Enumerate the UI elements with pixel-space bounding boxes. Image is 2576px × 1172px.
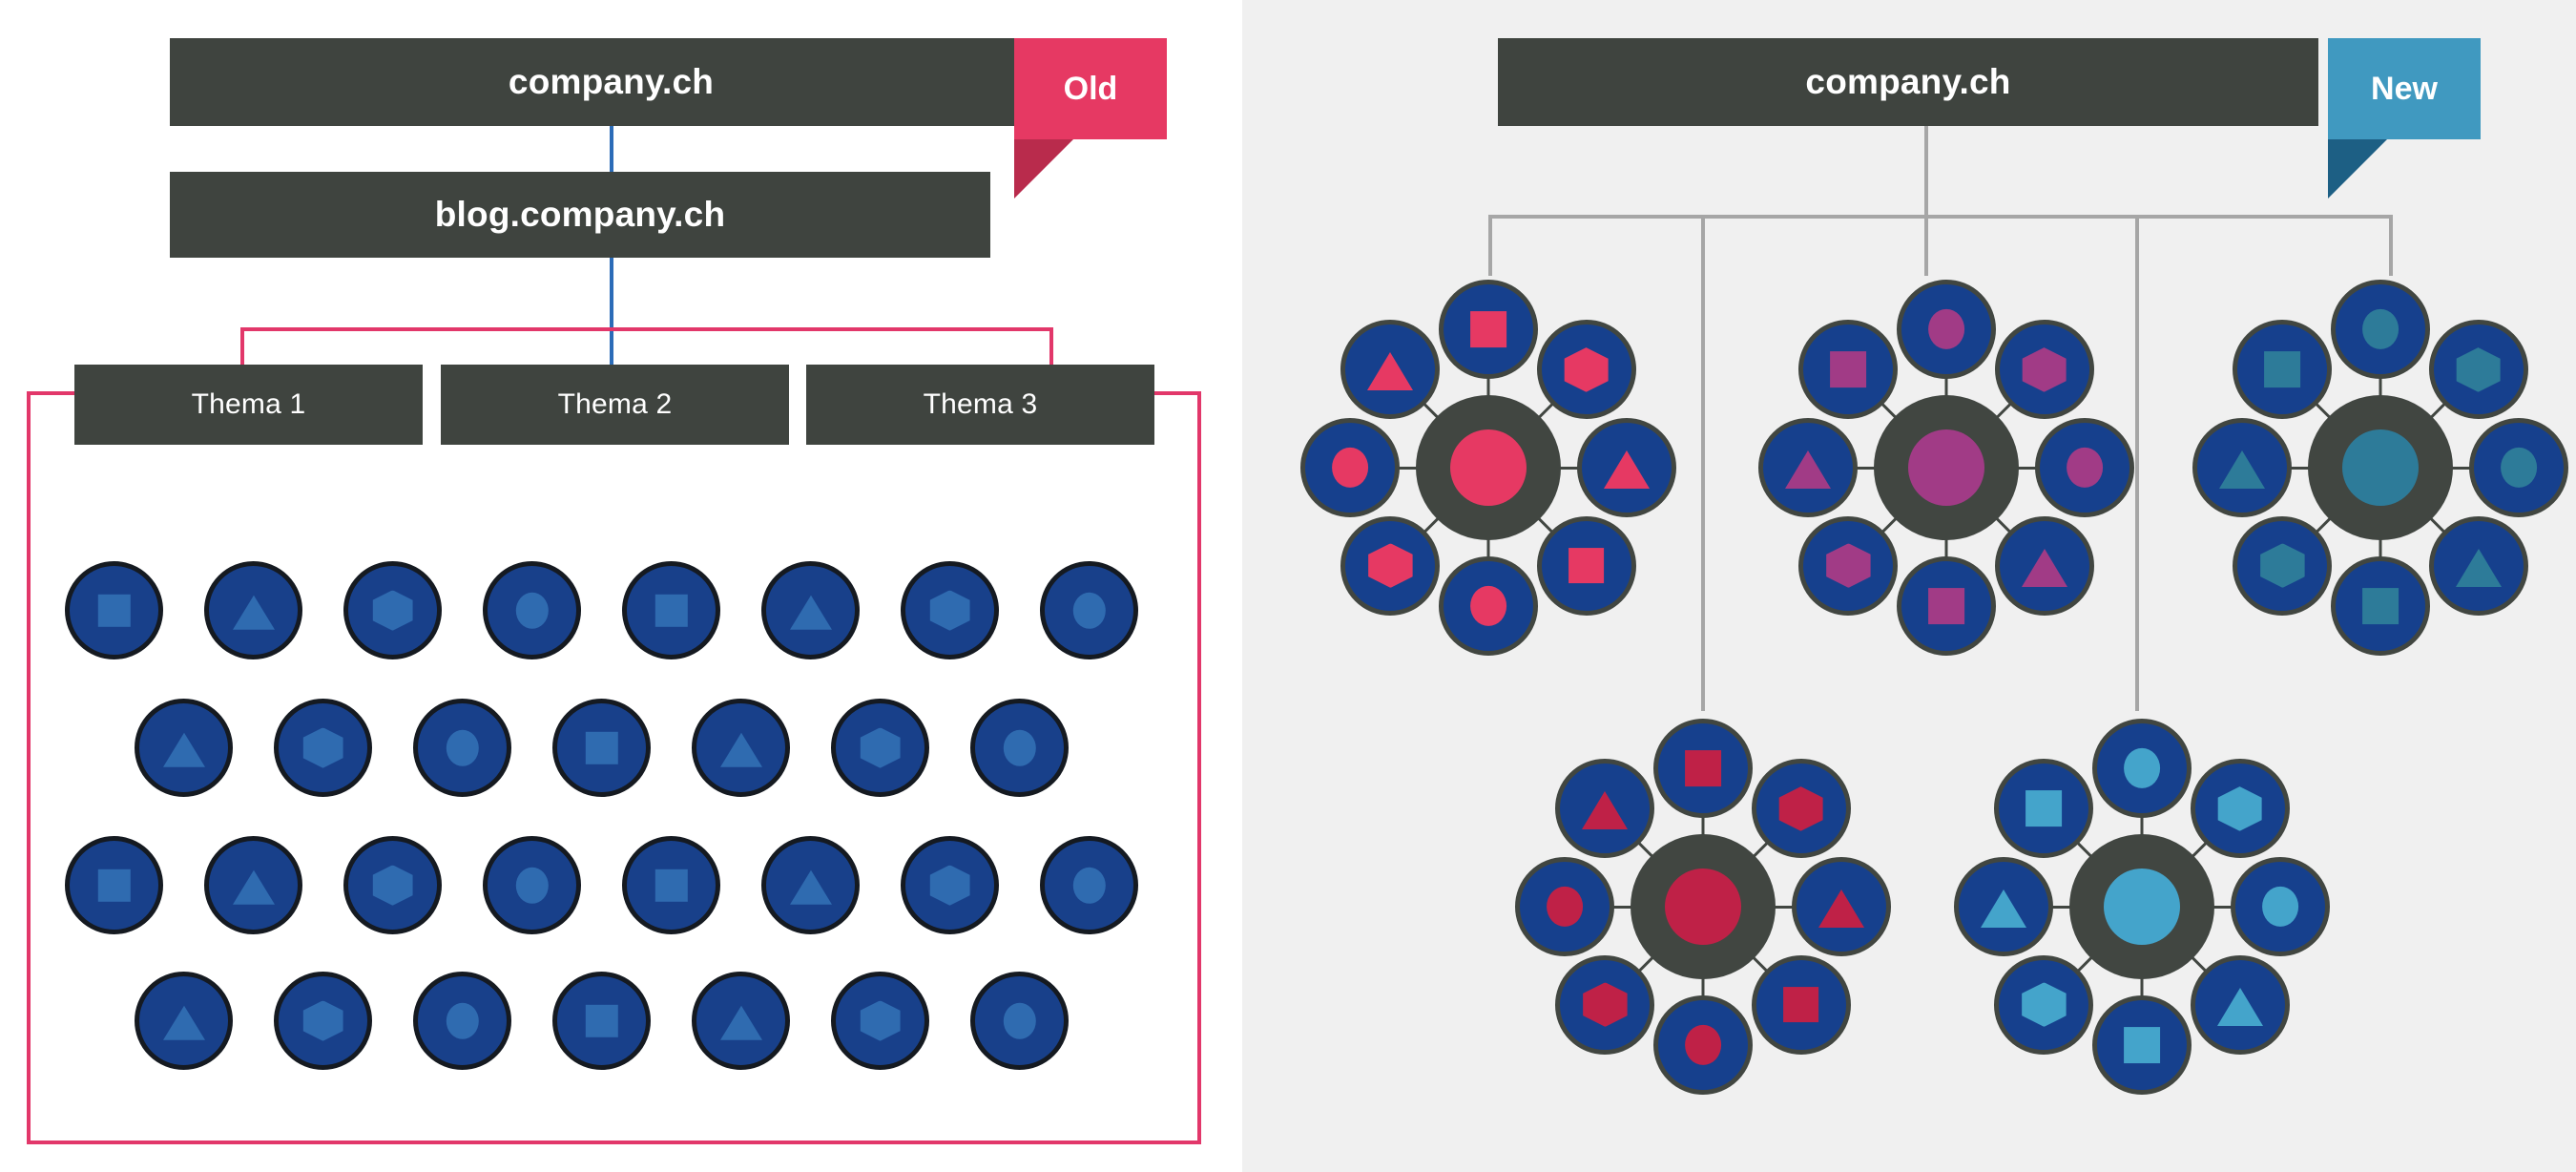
circle-shape-icon [1332,448,1368,488]
cluster-satellite[interactable] [1300,418,1400,517]
old-grid-circle[interactable] [970,699,1069,797]
hexagon-shape-icon [2456,347,2501,392]
circle-shape-icon [1547,887,1583,927]
old-blog-box[interactable]: blog.company.ch [170,172,990,258]
old-grid-circle[interactable] [622,836,720,934]
connector-blog-to-thema2 [610,256,613,370]
cluster-satellite[interactable] [2429,320,2528,419]
cluster-satellite[interactable] [1897,556,1996,656]
old-grid-circle[interactable] [343,561,442,659]
old-theme-box-2[interactable]: Thema 2 [441,365,789,445]
hexagon-shape-icon [372,590,412,630]
old-grid-circle[interactable] [343,836,442,934]
triangle-shape-icon [1785,450,1831,489]
circle-shape-icon [515,592,548,628]
square-shape-icon [2026,791,2063,827]
cluster-satellite[interactable] [1439,280,1538,379]
cluster-satellite[interactable] [1537,516,1636,616]
old-badge-fold [1014,139,1073,199]
cluster-satellite[interactable] [1439,556,1538,656]
old-grid-circle[interactable] [692,699,790,797]
hexagon-shape-icon [2217,786,2262,831]
new-crossbar [1488,215,2393,219]
triangle-shape-icon [2217,988,2263,1026]
circle-shape-icon [1003,729,1035,765]
square-shape-icon [97,594,130,626]
old-grid-circle[interactable] [204,561,302,659]
square-shape-icon [1568,548,1605,584]
triangle-shape-icon [163,732,205,766]
circle-shape-icon [515,867,548,903]
new-branch-drop-4 [2389,215,2393,276]
frame-bottom [27,1141,1201,1144]
cluster-hub[interactable] [2069,834,2214,979]
triangle-shape-icon [1981,889,2026,928]
cluster-satellite[interactable] [1653,995,1753,1095]
cluster-satellite[interactable] [1340,516,1440,616]
triangle-shape-icon [2456,549,2502,587]
triangle-shape-icon [233,869,275,904]
circle-shape-icon [2362,309,2399,349]
triangle-shape-icon [1818,889,1864,928]
old-grid-circle[interactable] [552,699,651,797]
old-grid-circle[interactable] [761,561,860,659]
cluster-hub[interactable] [1416,395,1561,540]
hexagon-shape-icon [2022,982,2067,1027]
triangle-shape-icon [1582,791,1628,829]
hexagon-shape-icon [302,727,343,767]
circle-shape-icon [2501,448,2537,488]
circle-shape-icon [446,1002,478,1038]
old-grid-circle[interactable] [901,561,999,659]
old-grid-circle[interactable] [552,972,651,1070]
cluster-satellite[interactable] [2035,418,2134,517]
old-root-box[interactable]: company.ch [170,38,1052,126]
circle-shape-icon [1003,1002,1035,1038]
triangle-shape-icon [790,595,832,629]
circle-shape-icon [2124,748,2160,788]
old-grid-circle[interactable] [65,561,163,659]
triangle-shape-icon [233,595,275,629]
old-grid-circle[interactable] [831,699,929,797]
frame-right [1197,391,1201,1141]
circle-shape-icon [1072,592,1105,628]
circle-shape-icon [1470,586,1506,626]
hexagon-shape-icon [1583,982,1628,1027]
square-shape-icon [2124,1027,2160,1063]
connector-thema-bracket [240,327,1053,331]
cluster-satellite[interactable] [1897,280,1996,379]
square-shape-icon [585,1004,617,1036]
old-grid-circle[interactable] [1040,836,1138,934]
cluster-satellite[interactable] [2331,280,2430,379]
old-theme-box-1[interactable]: Thema 1 [74,365,423,445]
cluster-hub[interactable] [1874,395,2019,540]
cluster-satellite[interactable] [1994,955,2093,1055]
new-trunk [1924,126,1928,218]
cluster-hub[interactable] [2308,395,2453,540]
cluster-satellite[interactable] [2429,516,2528,616]
hexagon-shape-icon [1368,543,1413,588]
circle-shape-icon [1685,1025,1721,1065]
cluster-satellite[interactable] [1792,857,1891,956]
old-grid-circle[interactable] [761,836,860,934]
square-shape-icon [1928,588,1964,624]
new-branch-drop-1 [1488,215,1492,276]
hexagon-shape-icon [2260,543,2305,588]
triangle-shape-icon [720,732,762,766]
circle-shape-icon [2262,887,2298,927]
old-grid-circle[interactable] [831,972,929,1070]
circle-shape-icon [1072,867,1105,903]
square-shape-icon [2362,588,2399,624]
square-shape-icon [97,869,130,901]
old-badge-flag: Old [1014,38,1167,139]
hexagon-shape-icon [1778,786,1823,831]
old-grid-circle[interactable] [135,699,233,797]
new-branch-long-right [2135,215,2139,711]
cluster-satellite[interactable] [2231,857,2330,956]
cluster-hub-core [2104,869,2180,945]
cluster-satellite[interactable] [1758,418,1858,517]
new-badge: New [2328,38,2481,172]
triangle-shape-icon [163,1005,205,1039]
cluster-satellite[interactable] [2331,556,2430,656]
cluster-satellite[interactable] [1954,857,2053,956]
old-grid-circle[interactable] [274,972,372,1070]
old-grid-circle[interactable] [135,972,233,1070]
triangle-shape-icon [720,1005,762,1039]
cluster-satellite[interactable] [1577,418,1676,517]
square-shape-icon [1685,750,1721,786]
cluster-satellite[interactable] [1995,320,2094,419]
square-shape-icon [1831,352,1867,388]
old-grid-circle[interactable] [413,972,511,1070]
circle-shape-icon [446,729,478,765]
square-shape-icon [2265,352,2301,388]
cluster-satellite[interactable] [2233,516,2332,616]
cluster-satellite[interactable] [1752,955,1851,1055]
frame-top-right-stub [1150,391,1201,395]
old-grid-circle[interactable] [65,836,163,934]
square-shape-icon [1470,311,1506,347]
triangle-shape-icon [1367,352,1413,390]
cluster-satellite[interactable] [2469,418,2568,517]
old-grid-circle[interactable] [622,561,720,659]
square-shape-icon [1783,987,1819,1023]
cluster-satellite[interactable] [1798,516,1898,616]
triangle-shape-icon [2022,549,2067,587]
old-grid-circle[interactable] [274,699,372,797]
cluster-satellite[interactable] [1555,955,1654,1055]
square-shape-icon [654,594,687,626]
cluster-satellite[interactable] [2192,418,2292,517]
square-shape-icon [585,731,617,764]
cluster-satellite[interactable] [1752,759,1851,858]
new-badge-flag: New [2328,38,2481,139]
cluster-hub-core [2342,429,2419,506]
cluster-satellite[interactable] [2191,955,2290,1055]
hexagon-shape-icon [302,1000,343,1040]
hexagon-shape-icon [929,865,969,905]
square-shape-icon [654,869,687,901]
cluster-satellite[interactable] [2092,995,2192,1095]
old-badge: Old [1014,38,1167,172]
frame-left [27,391,31,1141]
old-theme-box-3[interactable]: Thema 3 [806,365,1154,445]
frame-top-left-stub [27,391,76,395]
hexagon-shape-icon [929,590,969,630]
hexagon-shape-icon [372,865,412,905]
new-branch-drop-center [1924,215,1928,276]
hexagon-shape-icon [1564,347,1609,392]
cluster-hub[interactable] [1631,834,1776,979]
hexagon-shape-icon [860,1000,900,1040]
hexagon-shape-icon [2022,347,2067,392]
old-grid-circle[interactable] [970,972,1069,1070]
old-grid-circle[interactable] [204,836,302,934]
new-root-box[interactable]: company.ch [1498,38,2318,126]
circle-shape-icon [1928,309,1964,349]
old-grid-circle[interactable] [483,561,581,659]
old-grid-circle[interactable] [483,836,581,934]
cluster-satellite[interactable] [2191,759,2290,858]
new-branch-long-left [1701,215,1705,711]
cluster-hub-core [1450,429,1527,506]
hexagon-shape-icon [860,727,900,767]
triangle-shape-icon [1604,450,1650,489]
old-grid-circle[interactable] [413,699,511,797]
old-grid-circle[interactable] [1040,561,1138,659]
new-badge-fold [2328,139,2387,199]
circle-shape-icon [2067,448,2103,488]
triangle-shape-icon [2219,450,2265,489]
old-grid-circle[interactable] [901,836,999,934]
old-grid-circle[interactable] [692,972,790,1070]
hexagon-shape-icon [1826,543,1871,588]
cluster-hub-core [1908,429,1984,506]
cluster-satellite[interactable] [1995,516,2094,616]
triangle-shape-icon [790,869,832,904]
cluster-hub-core [1665,869,1741,945]
cluster-satellite[interactable] [1653,719,1753,818]
cluster-satellite[interactable] [1537,320,1636,419]
cluster-satellite[interactable] [1515,857,1614,956]
cluster-satellite[interactable] [2092,719,2192,818]
